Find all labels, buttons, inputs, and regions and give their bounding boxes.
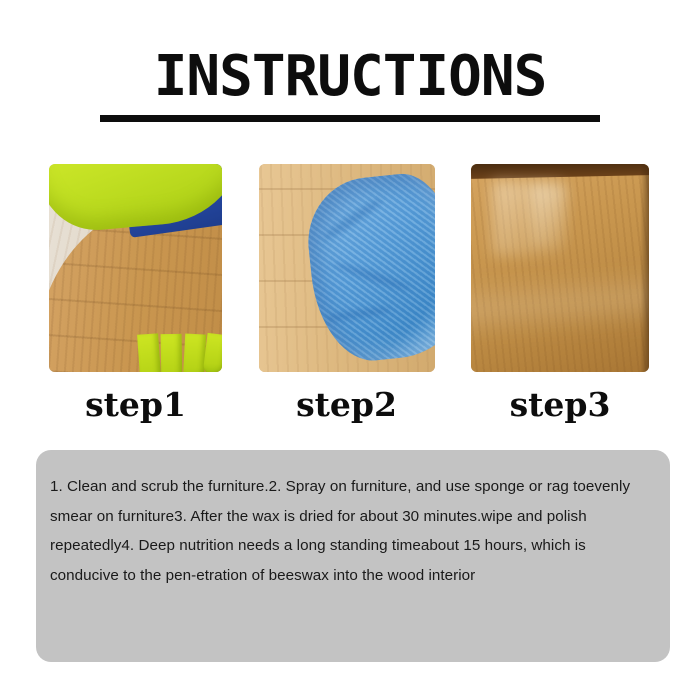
window-reflection (532, 185, 568, 247)
step2-photo-hand-blue-cloth-wood-table (259, 164, 435, 372)
step-image-row (49, 164, 649, 372)
description-panel: 1. Clean and scrub the furniture.2. Spra… (36, 450, 670, 662)
step-label-3: step3 (471, 386, 649, 424)
page-title-block: INSTRUCTIONS (0, 48, 700, 122)
glove-finger-icon (161, 334, 183, 372)
step1-photo-gloved-hand-sponge-wood-floor (49, 164, 222, 372)
step-label-row: step1 step2 step3 (49, 386, 649, 424)
step-label-1: step1 (49, 386, 222, 424)
title-underline-rule (100, 115, 600, 122)
table-right-edge (640, 164, 649, 372)
description-text: 1. Clean and scrub the furniture.2. Spra… (50, 472, 644, 590)
step-label-2: step2 (259, 386, 435, 424)
glove-finger-icon (137, 333, 162, 372)
page-title: INSTRUCTIONS (0, 48, 700, 106)
step3-photo-polished-glossy-wood-table (471, 164, 649, 372)
